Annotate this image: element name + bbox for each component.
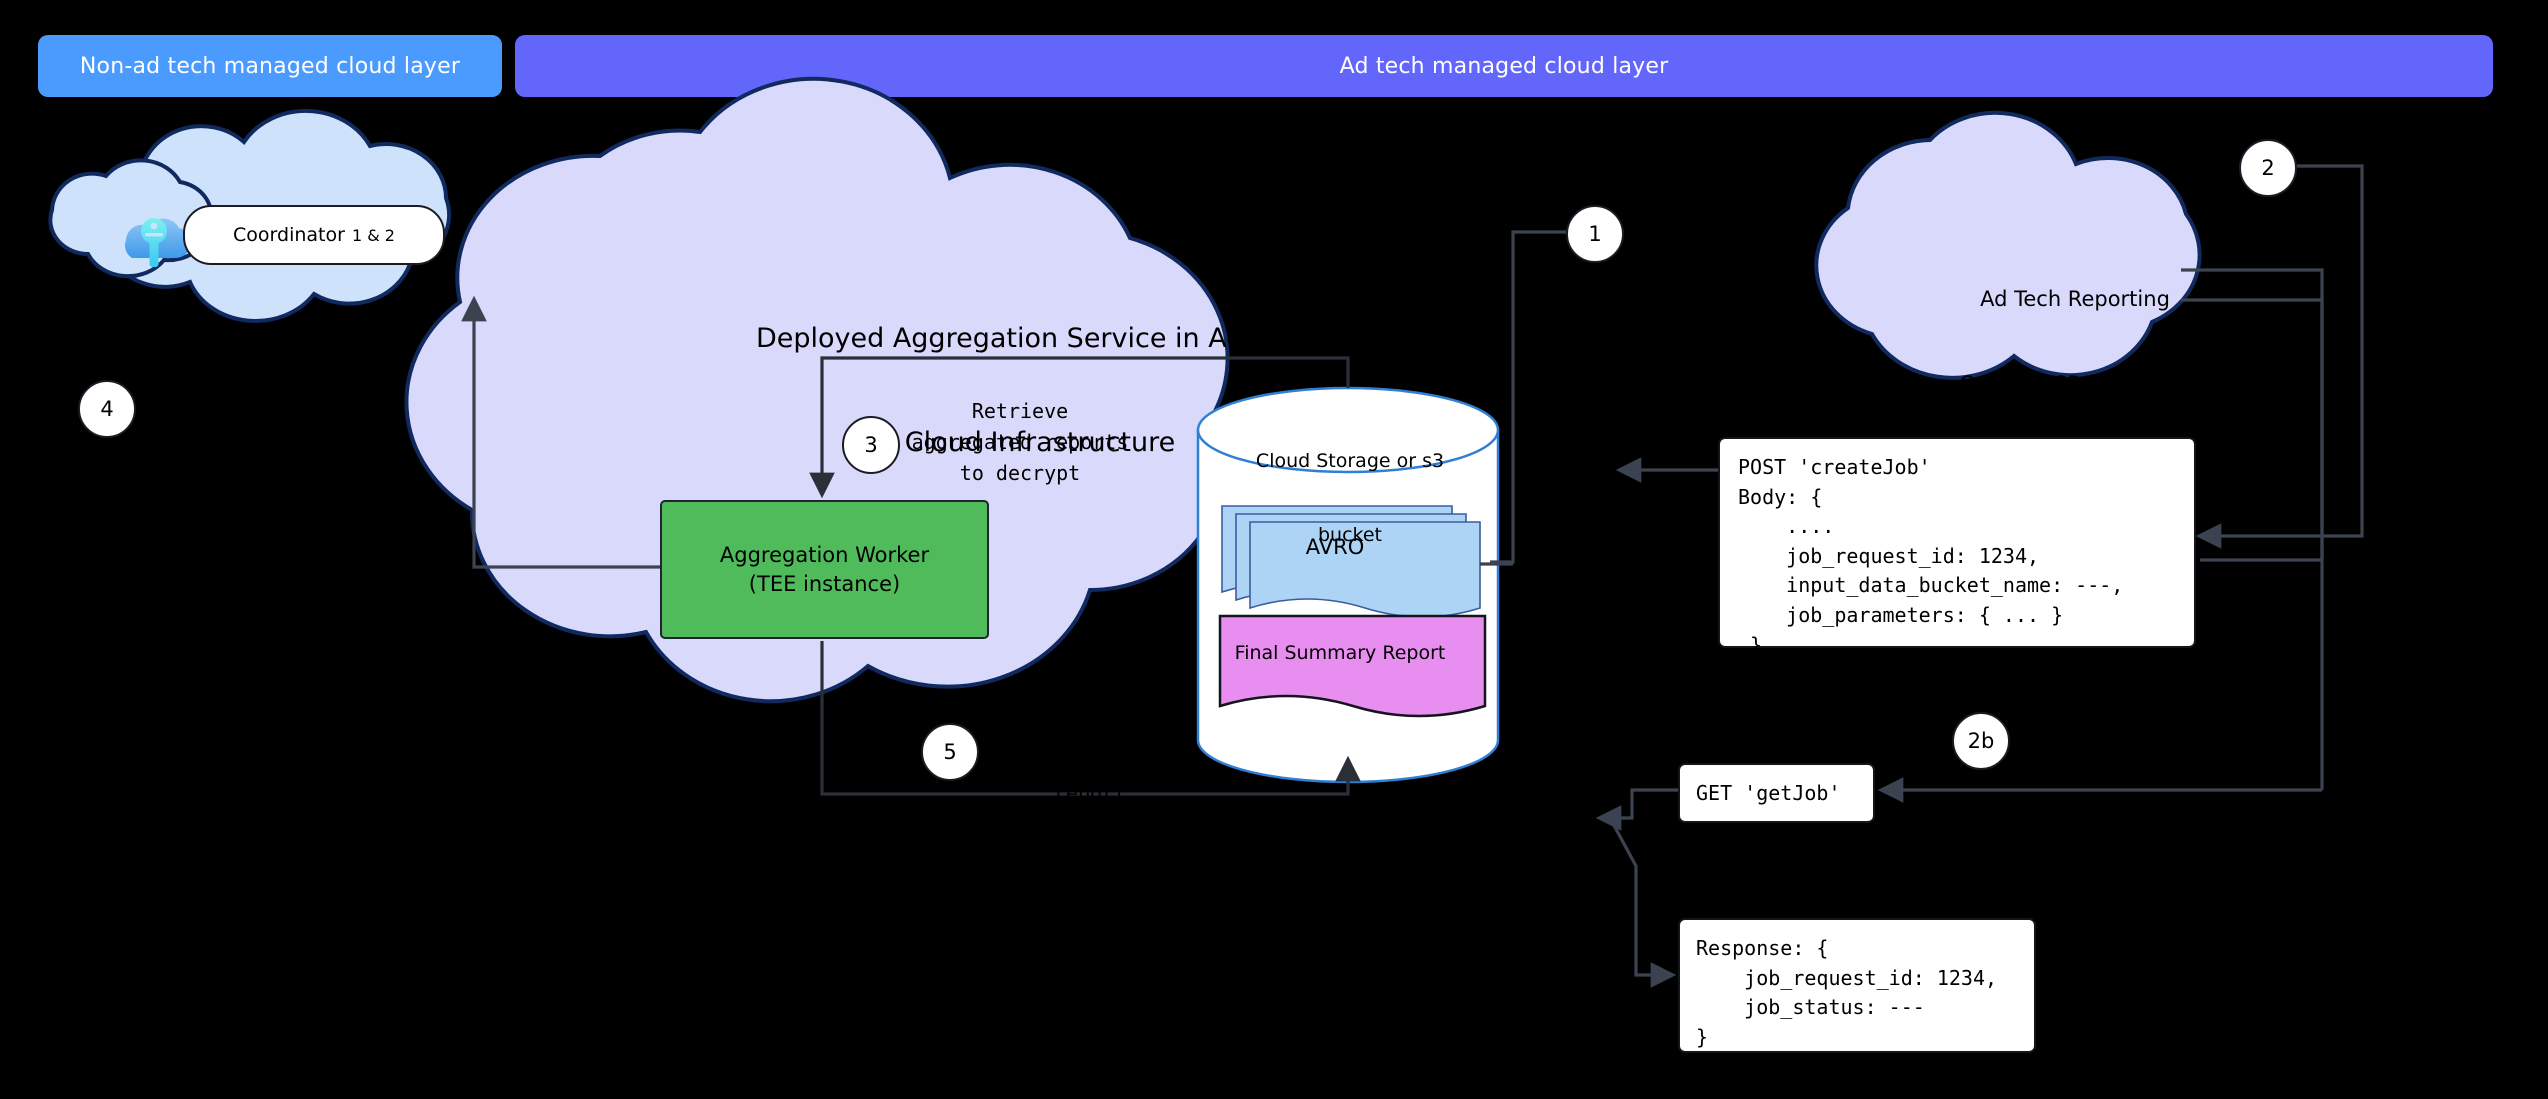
- step-badge-4: 4: [78, 380, 136, 438]
- worker-label-line1: Aggregation Worker: [720, 541, 929, 569]
- diagram-canvas: Non-ad tech managed cloud layer Ad tech …: [0, 0, 2548, 1099]
- bucket-title-line1: Cloud Storage or s3: [1215, 449, 1485, 474]
- arrow-step-1: [1490, 232, 1566, 562]
- origin-label-line1: Ad Tech Reporting: [1845, 285, 2305, 313]
- coordinator-label: Coordinator: [233, 224, 345, 246]
- post-createjob-code-box: POST 'createJob' Body: { .... job_reques…: [1718, 437, 2196, 648]
- get-getjob-box: GET 'getJob': [1678, 763, 1875, 823]
- step-5-description: Submitting final summary report: [1000, 716, 1180, 809]
- step-3-description: Retrieve aggregated reports to decrypt: [895, 396, 1145, 489]
- aggregation-worker-node[interactable]: Aggregation Worker (TEE instance): [660, 500, 989, 639]
- step-badge-2b: 2b: [1952, 712, 2010, 770]
- origin-label-line2: Origin (DSP/SSP/MMP): [1845, 370, 2305, 398]
- avro-label: AVRO: [1245, 535, 1425, 559]
- main-cloud-title-line1: Deployed Aggregation Service in Adtech's: [690, 322, 1390, 357]
- arrow-cloud-to-response: [1610, 818, 1672, 975]
- ad-tech-origin-label: Ad Tech Reporting Origin (DSP/SSP/MMP): [1845, 228, 2305, 455]
- worker-label-line2: (TEE instance): [749, 570, 900, 598]
- response-code-box: Response: { job_request_id: 1234, job_st…: [1678, 918, 2036, 1053]
- step-badge-5: 5: [921, 723, 979, 781]
- bucket-title: Cloud Storage or s3 bucket: [1215, 400, 1485, 598]
- arrow-getjob-to-cloud: [1600, 790, 1678, 818]
- coordinator-node[interactable]: Coordinator 1 & 2: [183, 205, 445, 265]
- step-badge-3: 3: [842, 416, 900, 474]
- step-badge-2: 2: [2239, 139, 2297, 197]
- step-badge-1: 1: [1566, 205, 1624, 263]
- final-summary-report-label: Final Summary Report: [1215, 642, 1465, 664]
- coordinator-suffix: 1 & 2: [352, 226, 395, 245]
